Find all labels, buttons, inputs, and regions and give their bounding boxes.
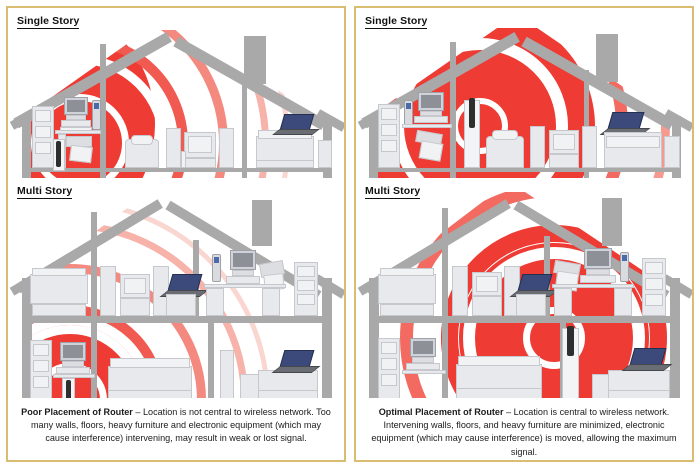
laptop-icon xyxy=(276,114,316,136)
house-cutaway-icon xyxy=(8,8,344,178)
house-cutaway-icon xyxy=(356,178,692,400)
desktop-computer-icon xyxy=(230,250,256,270)
laptop-icon xyxy=(276,350,316,374)
wifi-router-placement-infographic: Single Story xyxy=(0,0,700,468)
stereo-speaker-icon xyxy=(219,128,234,168)
cordless-phone-icon xyxy=(92,100,101,130)
piano-icon xyxy=(30,274,88,304)
stereo-speaker-icon xyxy=(582,126,597,168)
desktop-computer-icon xyxy=(584,248,612,269)
caption-optimal-placement: Optimal Placement of Router – Location i… xyxy=(356,398,692,460)
sofa-icon xyxy=(256,136,314,162)
armchair-icon xyxy=(486,136,524,168)
scene-multi-story-optimal: Multi Story xyxy=(356,178,692,400)
desktop-computer-icon xyxy=(410,338,436,357)
story-label-single: Single Story xyxy=(17,15,79,29)
stereo-speaker-icon xyxy=(100,266,116,316)
stereo-speaker-icon xyxy=(166,128,181,168)
caption-lead: Poor Placement of Router xyxy=(21,407,133,417)
chimney-icon xyxy=(244,36,266,84)
story-label-multi: Multi Story xyxy=(365,185,420,199)
laptop-icon xyxy=(626,348,668,372)
desktop-computer-icon xyxy=(418,92,444,111)
cordless-phone-icon xyxy=(620,252,629,282)
caption-lead: Optimal Placement of Router xyxy=(379,407,504,417)
stereo-speaker-icon xyxy=(452,266,468,316)
desktop-computer-icon xyxy=(64,97,88,115)
router-icon xyxy=(66,380,71,400)
piano-icon xyxy=(378,274,436,304)
sofa-icon xyxy=(608,370,670,392)
story-label-multi: Multi Story xyxy=(17,185,72,199)
caption-dash: – xyxy=(504,407,514,417)
sofa-icon xyxy=(108,366,192,392)
scene-multi-story-poor: Multi Story xyxy=(8,178,344,400)
side-table-icon xyxy=(664,136,680,168)
scene-single-story-poor: Single Story xyxy=(8,8,344,178)
desk-icon xyxy=(402,370,446,374)
panel-poor-placement: Single Story xyxy=(6,6,346,462)
side-table-icon xyxy=(318,140,332,168)
caption-poor-placement: Poor Placement of Router – Location is n… xyxy=(8,398,344,460)
router-icon xyxy=(56,141,61,167)
speaker-icon xyxy=(220,350,234,400)
scene-single-story-optimal: Single Story xyxy=(356,8,692,178)
sofa-icon xyxy=(456,364,542,390)
router-icon xyxy=(567,326,574,356)
caption-dash: – xyxy=(133,407,143,417)
house-cutaway-icon xyxy=(8,178,344,400)
stereo-speaker-icon xyxy=(530,126,545,168)
cordless-phone-icon xyxy=(212,254,221,282)
desk-icon xyxy=(402,124,452,128)
panel-optimal-placement: Single Story xyxy=(354,6,694,462)
story-label-single: Single Story xyxy=(365,15,427,29)
house-cutaway-icon xyxy=(356,8,692,178)
desktop-computer-icon xyxy=(60,342,86,361)
router-icon xyxy=(469,98,475,128)
